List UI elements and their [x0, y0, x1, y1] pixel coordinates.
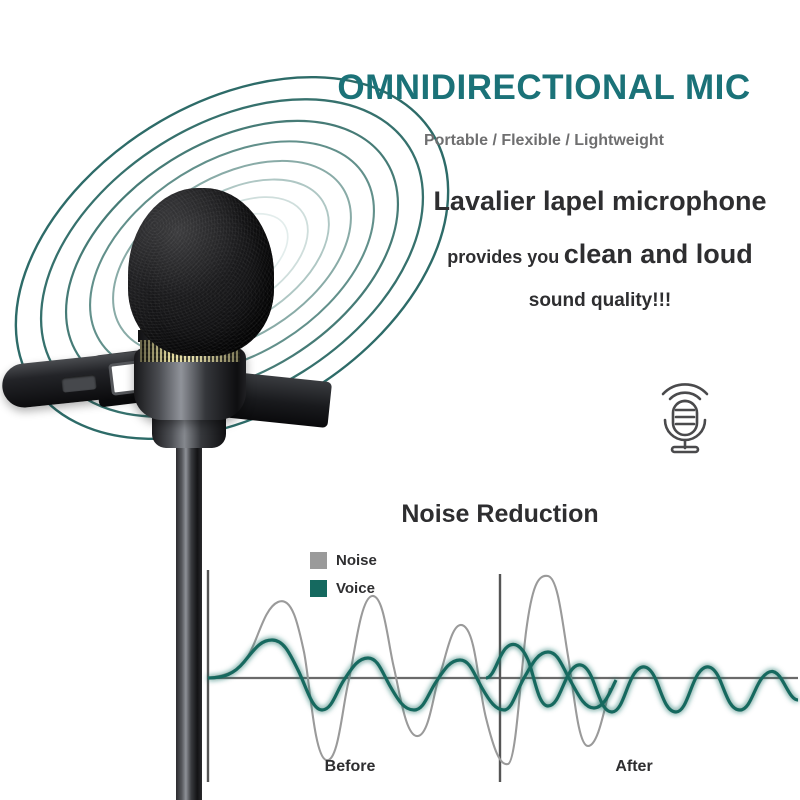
- mic-foam-windscreen: [128, 188, 274, 356]
- product-marketing-image: OMNIDIRECTIONAL MIC Portable / Flexible …: [0, 0, 800, 800]
- lapel-clip-notch: [108, 360, 144, 396]
- microphone-with-sound-waves-icon: [648, 368, 722, 454]
- mic-collar: [152, 408, 226, 448]
- mic-mid-ring: [138, 330, 242, 342]
- mic-barrel: [134, 348, 246, 420]
- copy-line-2-small: provides you: [447, 247, 559, 267]
- mic-gold-mesh-band-upper: [140, 308, 240, 330]
- lapel-clip-slot: [61, 374, 96, 392]
- mic-mesh-shading-lower: [140, 340, 240, 362]
- copy-line-3: sound quality!!!: [408, 290, 792, 312]
- lapel-clip-plate-left: [93, 341, 224, 408]
- mic-gold-mesh-band-lower: [140, 340, 240, 362]
- mic-mesh-shading-upper: [140, 308, 240, 330]
- subtitle: Portable / Flexible / Lightweight: [296, 132, 792, 150]
- noise-waveform-before: [208, 576, 610, 764]
- chart-label-before: Before: [270, 758, 430, 776]
- chart-label-after: After: [554, 758, 714, 776]
- copy-line-1: Lavalier lapel microphone: [408, 186, 792, 217]
- noise-reduction-title: Noise Reduction: [290, 500, 710, 529]
- copy-line-2-large: clean and loud: [564, 239, 753, 269]
- marketing-copy: Lavalier lapel microphone provides you c…: [408, 186, 792, 312]
- noise-reduction-waveform-chart: [186, 560, 800, 790]
- page-title: OMNIDIRECTIONAL MIC: [296, 68, 792, 108]
- lapel-clip-plate-right: [210, 370, 332, 428]
- copy-line-2: provides you clean and loud: [408, 239, 792, 270]
- lapel-clip-arm: [0, 350, 154, 409]
